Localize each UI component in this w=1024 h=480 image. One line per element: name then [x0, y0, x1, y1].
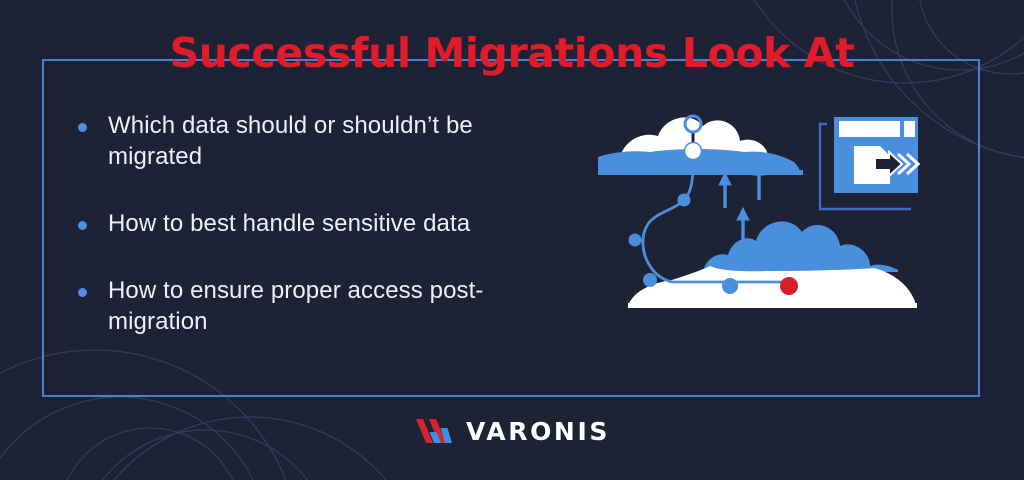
destination-cloud-underline: [628, 303, 917, 308]
bullet-text: How to ensure proper access post-migrati…: [108, 275, 568, 337]
arrow-up-icon: [719, 173, 731, 208]
path-curve: [643, 158, 693, 282]
export-window: [820, 117, 918, 209]
bullet-text: Which data should or shouldn’t be migrat…: [108, 110, 568, 172]
bullet-dot-icon: [78, 288, 87, 297]
list-item: Which data should or shouldn’t be migrat…: [78, 110, 568, 172]
source-cloud-underline: [598, 170, 803, 175]
destination-cloud: [628, 221, 917, 308]
destination-cloud-base: [628, 266, 916, 307]
list-item: How to best handle sensitive data: [78, 208, 568, 239]
slide-root: Successful Migrations Look At Which data…: [0, 0, 1024, 480]
page-title: Successful Migrations Look At: [0, 29, 1024, 77]
path-node-icon: [629, 234, 642, 247]
path-node-icon: [643, 273, 657, 287]
window-titlebar: [839, 121, 900, 137]
window-titlebar-button: [904, 121, 915, 137]
bullet-dot-icon: [78, 123, 87, 132]
path-node-icon: [722, 278, 738, 294]
bullet-dot-icon: [78, 221, 87, 230]
path-node-icon: [678, 194, 691, 207]
list-item: How to ensure proper access post-migrati…: [78, 275, 568, 337]
varonis-mark-icon: [414, 416, 456, 446]
path-node-icon: [685, 143, 702, 160]
varonis-wordmark: VARONIS: [466, 417, 610, 446]
bullet-list: Which data should or shouldn’t be migrat…: [78, 110, 568, 337]
path-node-end-icon: [780, 277, 798, 295]
brand-logo: VARONIS: [0, 416, 1024, 446]
cloud-migration-illustration: [598, 100, 948, 325]
arrow-up-icon: [737, 208, 749, 240]
destination-cloud-top: [704, 221, 898, 272]
bullet-text: How to best handle sensitive data: [108, 208, 470, 239]
